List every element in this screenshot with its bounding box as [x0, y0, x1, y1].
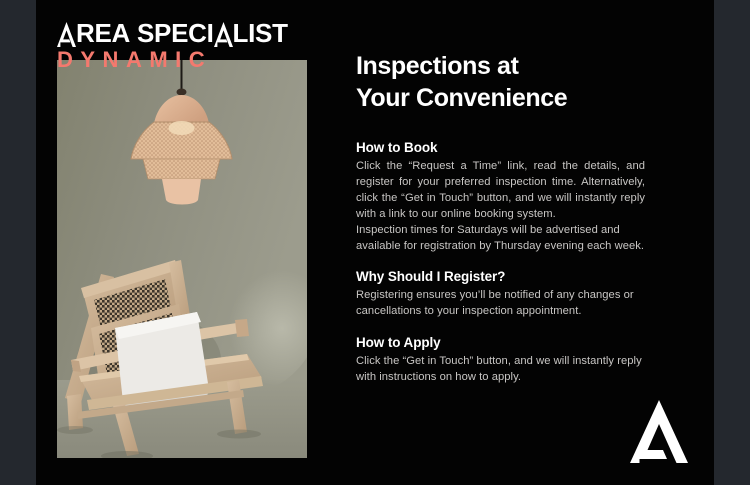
- section-how-to-book-body: Click the “Request a Time” link, read th…: [356, 159, 645, 254]
- page-title: Inspections at Your Convenience: [356, 50, 645, 114]
- brand-lockup: REASPECI LIST DYNAMIC: [57, 21, 288, 72]
- brand-wordmark-seg-2: SPECI: [137, 21, 214, 46]
- section-why-register-paragraph-1: Registering ensures you’ll be notified o…: [356, 288, 645, 320]
- interior-photo-illustration: [57, 60, 307, 458]
- section-how-to-apply-paragraph-1: Click the “Get in Touch” button, and we …: [356, 354, 645, 386]
- triangle-a-icon: [57, 22, 76, 47]
- triangle-a-icon-2: [214, 22, 233, 47]
- section-why-register: Why Should I Register? Registering ensur…: [356, 269, 645, 320]
- section-how-to-apply-title: How to Apply: [356, 335, 645, 350]
- section-how-to-book: How to Book Click the “Request a Time” l…: [356, 140, 645, 254]
- inspection-info-panel: Inspections at Your Convenience How to B…: [356, 50, 645, 386]
- area-specialist-logo-icon: [630, 400, 688, 463]
- section-how-to-apply-body: Click the “Get in Touch” button, and we …: [356, 354, 645, 386]
- section-how-to-book-paragraph-1: Click the “Request a Time” link, read th…: [356, 159, 645, 223]
- brand-wordmark-seg-1: REA: [76, 21, 130, 46]
- section-why-register-body: Registering ensures you’ll be notified o…: [356, 288, 645, 320]
- interior-photo: [57, 60, 307, 458]
- page-title-line-1: Inspections at: [356, 50, 645, 82]
- page-title-line-2: Your Convenience: [356, 82, 645, 114]
- section-how-to-book-paragraph-2: Inspection times for Saturdays will be a…: [356, 223, 645, 255]
- brand-wordmark-secondary: DYNAMIC: [57, 47, 288, 72]
- section-how-to-apply: How to Apply Click the “Get in Touch” bu…: [356, 335, 645, 386]
- section-how-to-book-title: How to Book: [356, 140, 645, 155]
- brand-wordmark-seg-3: LIST: [233, 21, 288, 46]
- section-why-register-title: Why Should I Register?: [356, 269, 645, 284]
- content-card: REASPECI LIST DYNAMIC: [36, 0, 714, 485]
- brand-wordmark-primary: REASPECI LIST: [57, 21, 288, 46]
